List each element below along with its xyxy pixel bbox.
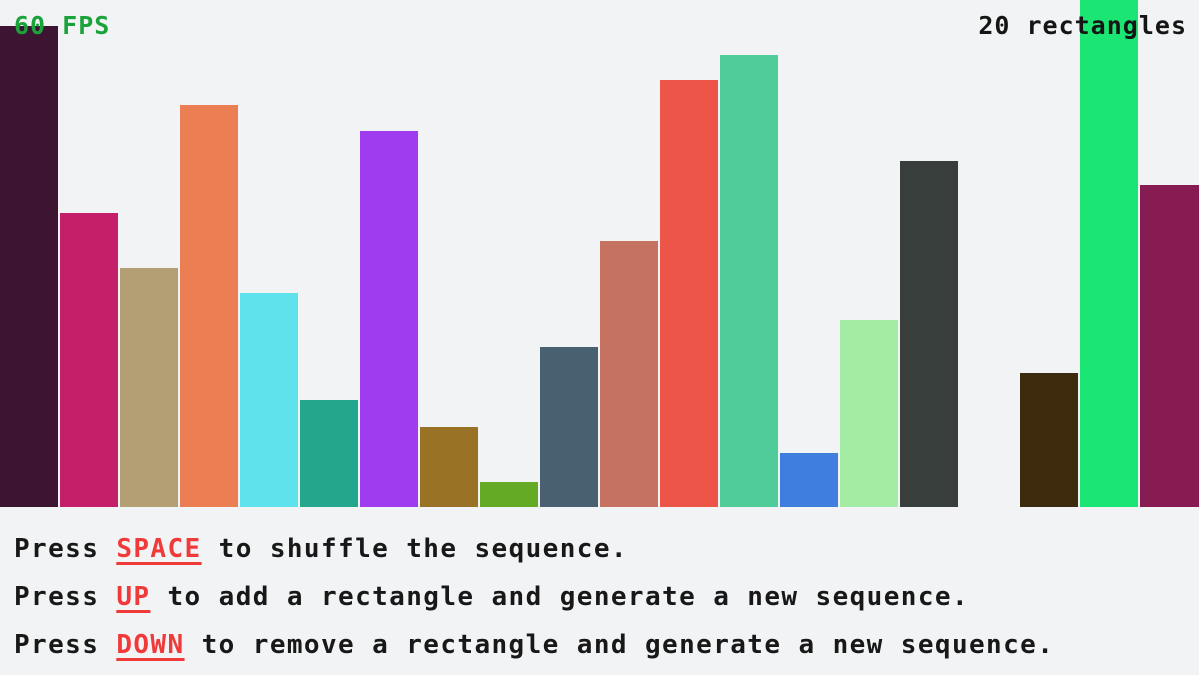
app-root: 60 FPS 20 rectangles Press SPACE to shuf… (0, 0, 1199, 675)
key-hint-space[interactable]: SPACE (116, 534, 201, 564)
bar-8[interactable] (420, 427, 478, 507)
instruction-prefix: Press (14, 582, 116, 612)
rectangle-count-label: 20 rectangles (978, 12, 1187, 40)
bar-16[interactable] (900, 161, 958, 507)
bar-19[interactable] (1080, 0, 1138, 507)
bar-12[interactable] (660, 80, 718, 507)
bar-2[interactable] (60, 213, 118, 507)
bar-20[interactable] (1140, 185, 1199, 507)
instructions-panel: Press SPACE to shuffle the sequence.Pres… (0, 509, 1199, 675)
bar-14[interactable] (780, 453, 838, 507)
instruction-suffix: to shuffle the sequence. (202, 534, 628, 564)
bar-5[interactable] (240, 293, 298, 507)
bar-6[interactable] (300, 400, 358, 507)
bar-10[interactable] (540, 347, 598, 507)
instruction-prefix: Press (14, 534, 116, 564)
key-hint-down[interactable]: DOWN (116, 630, 184, 660)
bar-7[interactable] (360, 131, 418, 507)
bar-15[interactable] (840, 320, 898, 507)
instruction-suffix: to remove a rectangle and generate a new… (185, 630, 1055, 660)
instruction-line-2: Press UP to add a rectangle and generate… (14, 573, 1199, 621)
instruction-line-1: Press SPACE to shuffle the sequence. (14, 525, 1199, 573)
instruction-line-3: Press DOWN to remove a rectangle and gen… (14, 621, 1199, 669)
bar-3[interactable] (120, 268, 178, 507)
bar-4[interactable] (180, 105, 238, 507)
bar-18[interactable] (1020, 373, 1078, 507)
bar-9[interactable] (480, 482, 538, 507)
fps-counter: 60 FPS (14, 12, 110, 40)
bar-chart-canvas[interactable] (0, 0, 1199, 507)
bar-13[interactable] (720, 55, 778, 507)
instruction-suffix: to add a rectangle and generate a new se… (150, 582, 969, 612)
instruction-prefix: Press (14, 630, 116, 660)
bar-1[interactable] (0, 26, 58, 507)
bar-11[interactable] (600, 241, 658, 507)
key-hint-up[interactable]: UP (116, 582, 150, 612)
